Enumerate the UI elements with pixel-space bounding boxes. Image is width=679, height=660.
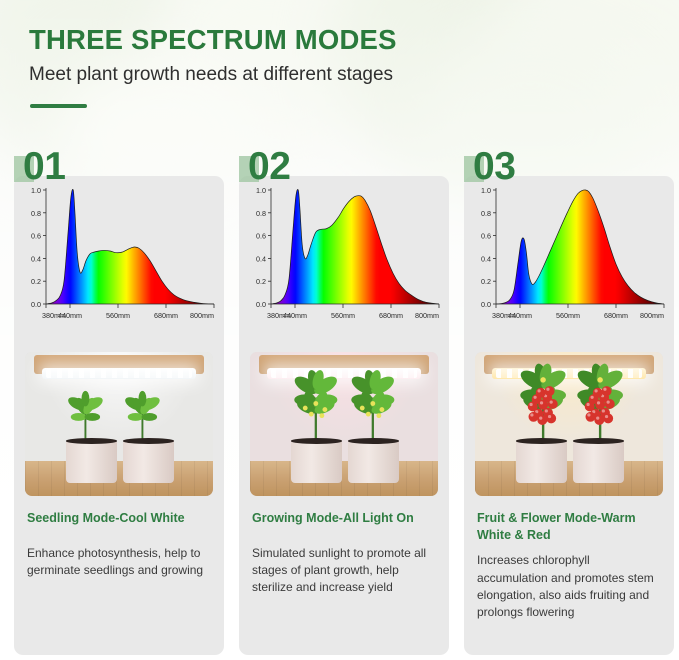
- y-tick-label: 0.2: [31, 277, 41, 286]
- plant-pot: [123, 440, 174, 483]
- x-tick-label: 800mm: [190, 311, 214, 320]
- photo-table: [25, 461, 213, 496]
- leaf-icon: [82, 391, 90, 406]
- tomato-fruit-icon: [601, 386, 611, 396]
- leaf-icon: [85, 413, 100, 421]
- tomato-fruit-icon: [604, 399, 614, 409]
- mode-card-2[interactable]: 0.00.20.40.60.81.0380mm440mm560mm680mm80…: [239, 176, 449, 655]
- tomato-fruit-icon: [603, 414, 613, 424]
- x-tick-label: 680mm: [604, 311, 628, 320]
- plant-foliage-icon: [335, 366, 411, 447]
- y-tick-label: 0.4: [481, 254, 491, 263]
- fruit-highlight: [586, 403, 589, 406]
- fruit-highlight: [587, 414, 590, 417]
- fruit-highlight: [550, 401, 553, 404]
- x-tick-label: 680mm: [379, 311, 403, 320]
- fruit-highlight: [534, 396, 537, 399]
- caption-title: Seedling Mode-Cool White: [27, 510, 213, 527]
- badge-02: 02: [239, 148, 449, 194]
- flower-icon: [309, 412, 314, 417]
- column-header-2: 02: [239, 148, 449, 194]
- mode-photo-3: [475, 352, 663, 496]
- tomato-fruit-icon: [546, 414, 556, 424]
- caption-title: Growing Mode-All Light On: [252, 510, 438, 527]
- x-tick-label: 440mm: [283, 311, 307, 320]
- flower-icon: [376, 413, 381, 418]
- y-tick-label: 0.8: [256, 209, 266, 218]
- mode-caption-2: Growing Mode-All Light On Simulated sunl…: [252, 510, 438, 597]
- mode-caption-3: Fruit & Flower Mode-Warm White & Red Inc…: [477, 510, 663, 622]
- tomato-fruit-icon: [536, 388, 546, 398]
- y-tick-label: 0.2: [481, 277, 491, 286]
- fruit-highlight: [606, 401, 609, 404]
- y-tick-label: 0.6: [256, 232, 266, 241]
- x-tick-label: 440mm: [58, 311, 82, 320]
- plant: [335, 366, 411, 447]
- mode-photo-1: [25, 352, 213, 496]
- tomato-fruit-icon: [538, 415, 548, 425]
- spectrum-area: [496, 190, 664, 304]
- leaf-icon: [71, 413, 86, 421]
- leaf-icon: [127, 413, 142, 421]
- fruit-highlight: [539, 417, 542, 420]
- leaf-icon: [138, 391, 146, 406]
- flower-icon: [541, 377, 546, 382]
- column-header-3: 03: [464, 148, 674, 194]
- x-tick-label: 800mm: [415, 311, 439, 320]
- tomato-fruit-icon: [585, 412, 595, 422]
- caption-body: Increases chlorophyll accumulation and p…: [477, 552, 663, 622]
- tomato-fruit-icon: [548, 399, 558, 409]
- spectrum-svg: 0.00.20.40.60.81.0380mm440mm560mm680mm80…: [464, 176, 674, 348]
- badge-01: 01: [14, 148, 224, 194]
- x-tick-label: 560mm: [556, 311, 580, 320]
- fruit-highlight: [590, 396, 593, 399]
- leaf-icon: [141, 413, 156, 421]
- spectrum-chart-2: 0.00.20.40.60.81.0380mm440mm560mm680mm80…: [239, 176, 449, 348]
- plant-foliage-icon: [560, 358, 640, 447]
- fruit-highlight: [538, 390, 541, 393]
- tomato-fruit-icon: [529, 412, 539, 422]
- x-tick-label: 800mm: [640, 311, 664, 320]
- plant: [560, 358, 640, 447]
- y-tick-label: 0.0: [481, 300, 491, 309]
- spectrum-svg: 0.00.20.40.60.81.0380mm440mm560mm680mm80…: [14, 176, 224, 348]
- fruit-highlight: [603, 388, 606, 391]
- badge-03: 03: [464, 148, 674, 194]
- flower-icon: [320, 413, 325, 418]
- badge-number: 02: [248, 145, 290, 189]
- photo-table: [475, 461, 663, 496]
- x-tick-label: 680mm: [154, 311, 178, 320]
- x-tick-label: 560mm: [331, 311, 355, 320]
- fruit-highlight: [597, 402, 600, 405]
- y-tick-label: 0.0: [31, 300, 41, 309]
- photo-table: [250, 461, 438, 496]
- x-tick-label: 560mm: [106, 311, 130, 320]
- plant-pot: [348, 440, 399, 483]
- flower-icon: [365, 412, 370, 417]
- fruit-highlight: [605, 415, 608, 418]
- y-tick-label: 0.8: [31, 209, 41, 218]
- title-divider: [30, 104, 87, 108]
- tomato-fruit-icon: [594, 415, 604, 425]
- column-header-1: 01: [14, 148, 224, 194]
- spectrum-svg: 0.00.20.40.60.81.0380mm440mm560mm680mm80…: [239, 176, 449, 348]
- badge-number: 03: [473, 145, 515, 189]
- fruit-highlight: [547, 388, 550, 391]
- fruit-highlight: [530, 414, 533, 417]
- spectrum-chart-3: 0.00.20.40.60.81.0380mm440mm560mm680mm80…: [464, 176, 674, 348]
- y-tick-label: 0.0: [256, 300, 266, 309]
- y-tick-label: 0.6: [481, 232, 491, 241]
- badge-number: 01: [23, 145, 65, 189]
- mode-card-3[interactable]: 0.00.20.40.60.81.0380mm440mm560mm680mm80…: [464, 176, 674, 655]
- y-tick-label: 0.6: [31, 232, 41, 241]
- page-subtitle: Meet plant growth needs at different sta…: [29, 64, 393, 86]
- fruit-highlight: [530, 403, 533, 406]
- y-tick-label: 0.8: [481, 209, 491, 218]
- grow-light-bar: [42, 368, 196, 379]
- fruit-highlight: [540, 402, 543, 405]
- spectrum-area: [271, 189, 439, 304]
- fruit-highlight: [548, 415, 551, 418]
- mode-photo-2: [250, 352, 438, 496]
- flower-icon: [314, 401, 319, 406]
- tomato-fruit-icon: [592, 388, 602, 398]
- flower-icon: [323, 407, 328, 412]
- fruit-highlight: [594, 390, 597, 393]
- y-tick-label: 0.4: [256, 254, 266, 263]
- flower-icon: [359, 406, 364, 411]
- caption-body: Simulated sunlight to promote all stages…: [252, 545, 438, 597]
- caption-body: Enhance photosynthesis, help to germinat…: [27, 545, 213, 580]
- fruit-highlight: [596, 417, 599, 420]
- tomato-fruit-icon: [545, 386, 555, 396]
- y-tick-label: 0.4: [31, 254, 41, 263]
- spectrum-chart-1: 0.00.20.40.60.81.0380mm440mm560mm680mm80…: [14, 176, 224, 348]
- fruit-highlight: [601, 410, 604, 413]
- caption-title: Fruit & Flower Mode-Warm White & Red: [477, 510, 663, 543]
- spectrum-area: [46, 189, 214, 304]
- flower-icon: [370, 401, 375, 406]
- y-tick-label: 0.2: [256, 277, 266, 286]
- flower-icon: [597, 377, 602, 382]
- led-dots: [46, 369, 192, 378]
- flower-icon: [303, 406, 308, 411]
- fruit-highlight: [545, 410, 548, 413]
- page-title: THREE SPECTRUM MODES: [29, 24, 397, 56]
- mode-caption-1: Seedling Mode-Cool White Enhance photosy…: [27, 510, 213, 579]
- mode-card-1[interactable]: 0.00.20.40.60.81.0380mm440mm560mm680mm80…: [14, 176, 224, 655]
- plant-pot: [573, 440, 624, 483]
- flower-icon: [379, 407, 384, 412]
- x-tick-label: 440mm: [508, 311, 532, 320]
